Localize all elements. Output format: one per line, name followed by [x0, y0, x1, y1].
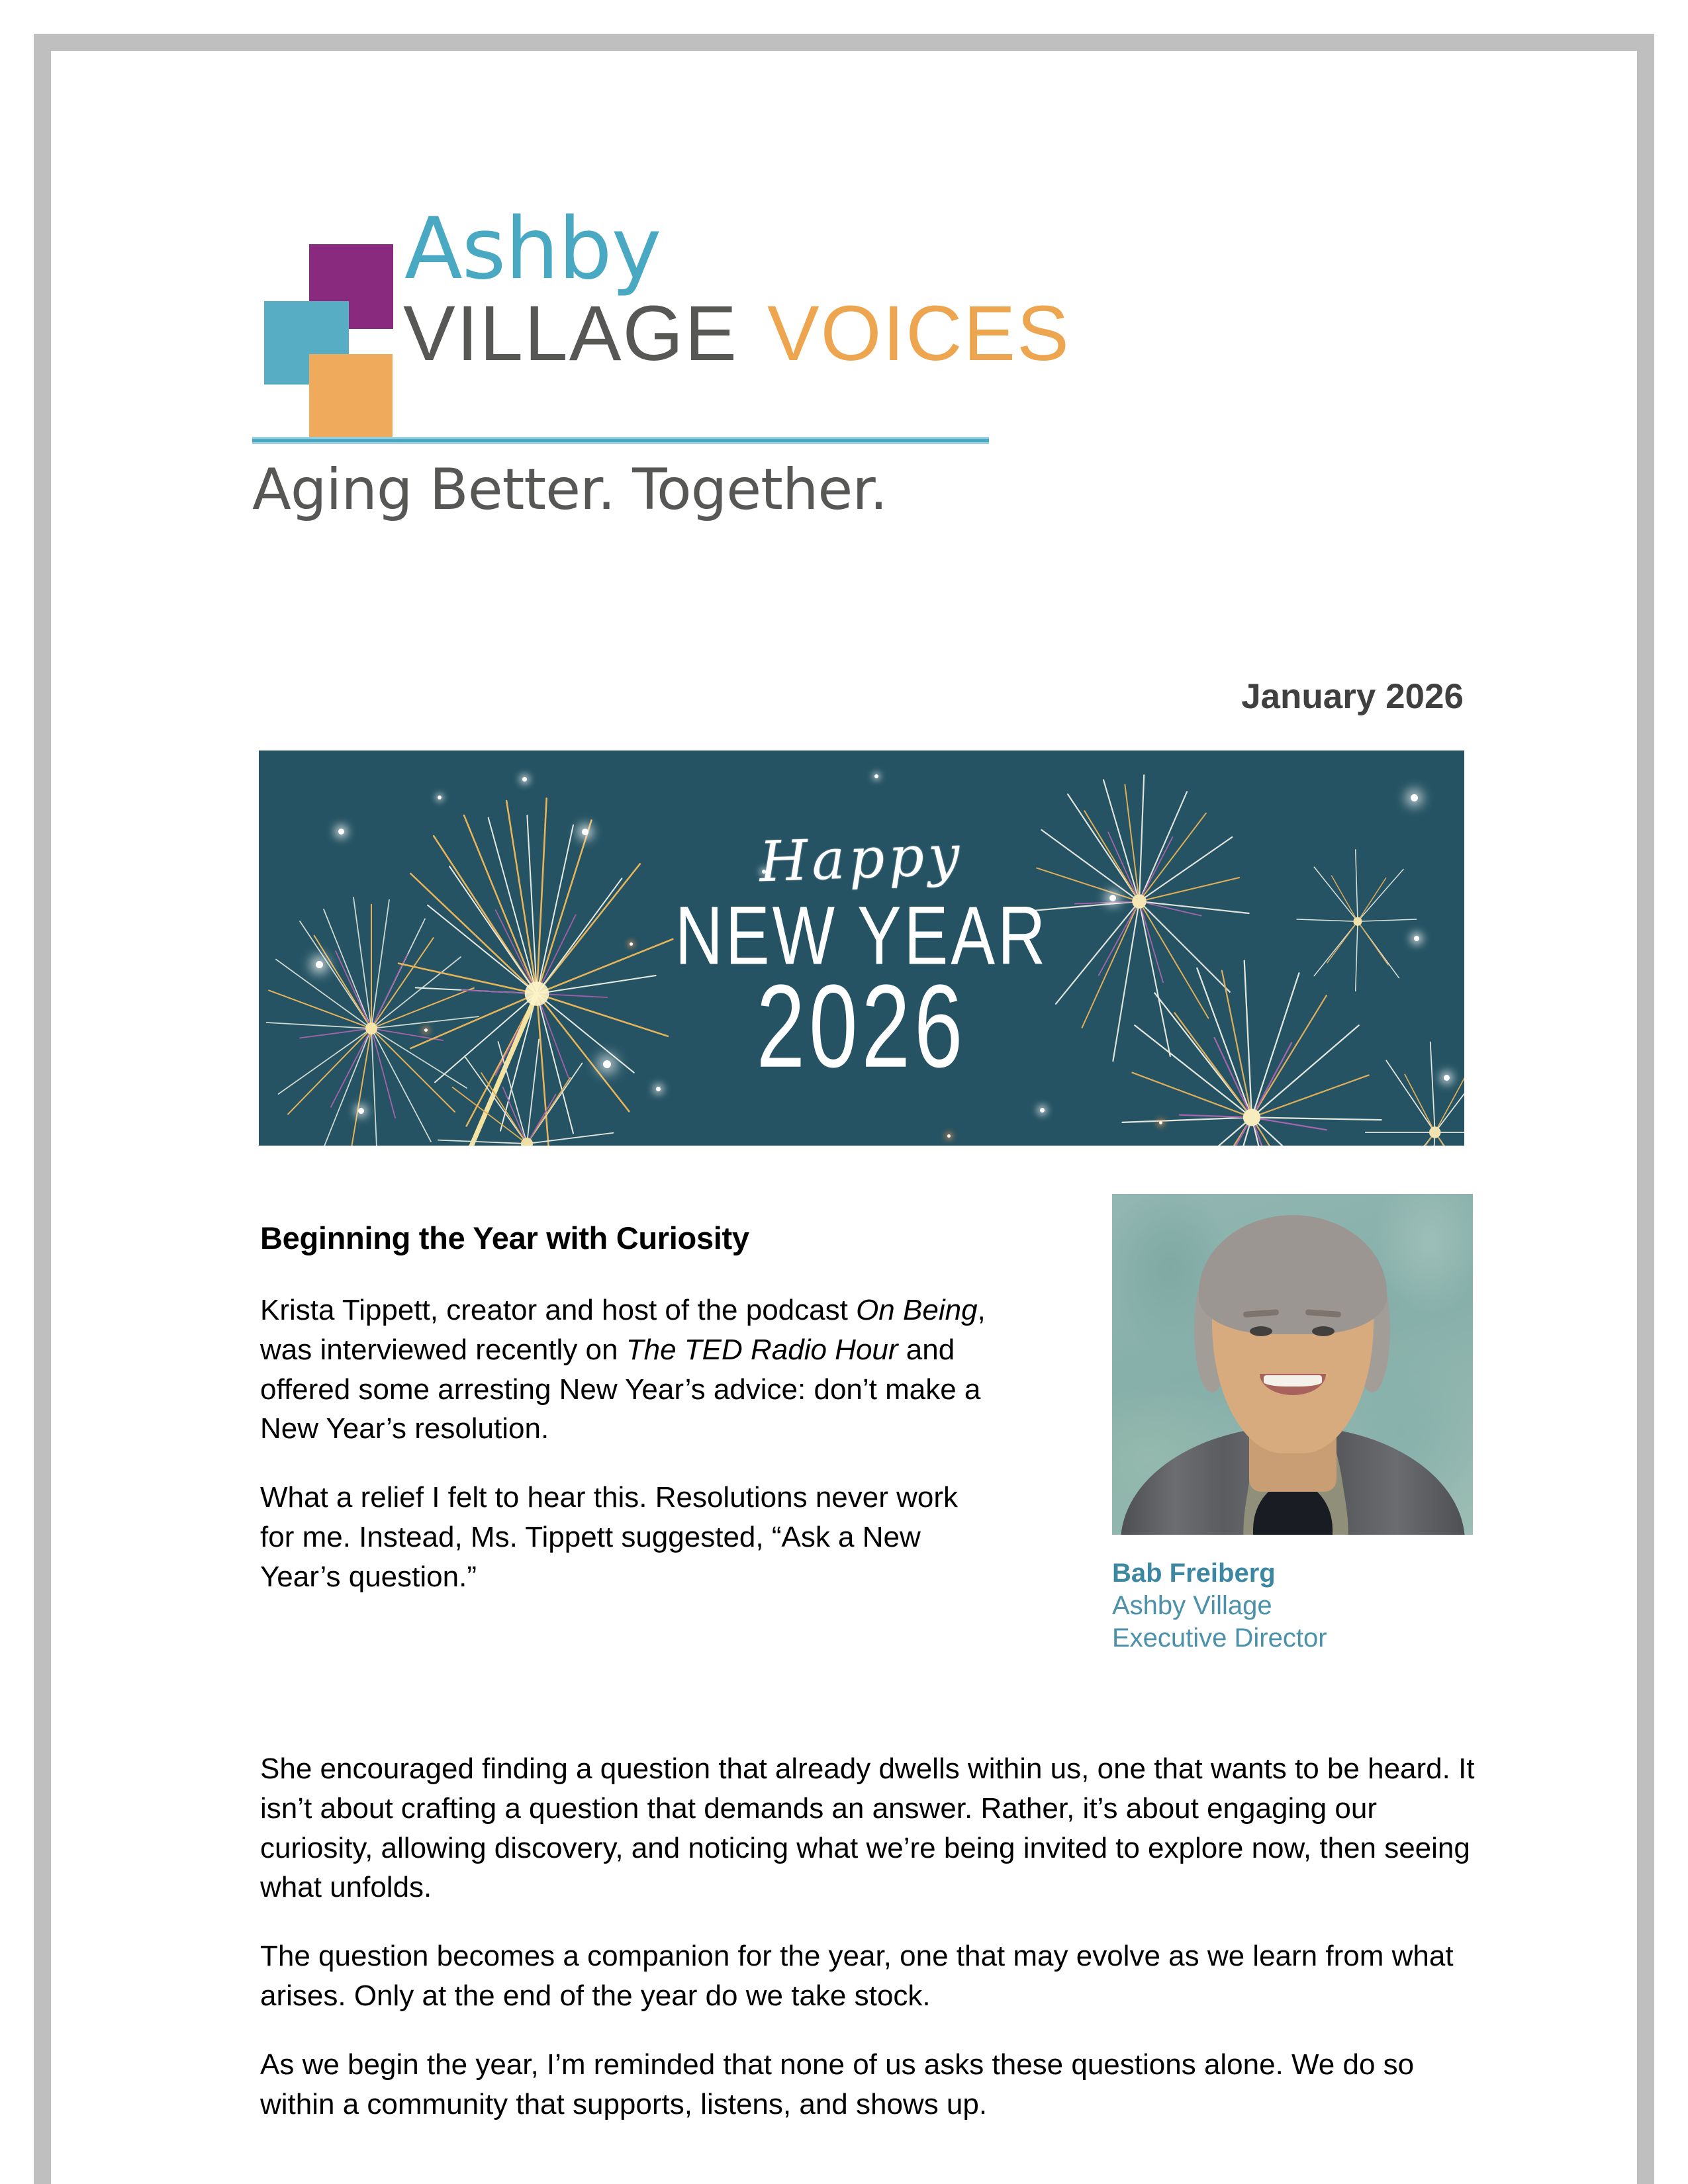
photo-eye-right — [1312, 1326, 1335, 1336]
firework-icon — [1291, 843, 1424, 995]
logo-divider-rule — [252, 437, 989, 444]
sparkle-icon — [438, 796, 442, 799]
logo-squares-icon — [252, 222, 404, 414]
sparkle-icon — [947, 1134, 951, 1138]
firework-icon — [431, 1028, 623, 1146]
new-year-banner: Happy NEW YEAR 2026 — [259, 751, 1464, 1146]
author-title: Executive Director — [1112, 1622, 1473, 1655]
logo-square-orange — [309, 354, 393, 439]
article-paragraph-2: What a relief I felt to hear this. Resol… — [260, 1478, 995, 1596]
sparkle-icon — [1414, 936, 1419, 941]
sparkle-icon — [1040, 1108, 1045, 1113]
sparkle-icon — [630, 942, 633, 946]
article-paragraph-1: Krista Tippett, creator and host of the … — [260, 1291, 995, 1449]
banner-headline: NEW YEAR — [675, 893, 1049, 979]
banner-script-happy: Happy — [759, 823, 965, 895]
logo-word-ashby: Ashby — [404, 207, 661, 292]
logo-wordmark-row: VILLAGEVOICES — [403, 295, 1070, 373]
article-paragraph-5: As we begin the year, I’m reminded that … — [260, 2045, 1476, 2124]
author-block: Bab Freiberg Ashby Village Executive Dir… — [1112, 1194, 1473, 1654]
author-name: Bab Freiberg — [1112, 1557, 1473, 1590]
article-headline: Beginning the Year with Curiosity — [260, 1220, 995, 1256]
logo-tagline: Aging Better. Together. — [252, 457, 887, 523]
sparkle-icon — [338, 829, 344, 835]
article-left-column: Beginning the Year with Curiosity Krista… — [260, 1220, 995, 1626]
article-paragraph-3: She encouraged finding a question that a… — [260, 1749, 1476, 1907]
masthead-logo: Ashby VILLAGEVOICES Aging Better. Togeth… — [252, 222, 1477, 539]
sparkle-icon — [874, 774, 878, 778]
sparkle-icon — [1159, 1121, 1162, 1124]
photo-eye-left — [1250, 1326, 1272, 1336]
page-content: Ashby VILLAGEVOICES Aging Better. Togeth… — [51, 51, 1637, 2184]
sparkle-icon — [1444, 1075, 1450, 1081]
sparkle-icon — [603, 1060, 611, 1068]
sparkle-icon — [424, 1028, 428, 1032]
sparkle-icon — [522, 777, 527, 782]
article-paragraph-4: The question becomes a companion for the… — [260, 1936, 1476, 2016]
sparkle-icon — [762, 870, 766, 874]
logo-word-voices: VOICES — [767, 290, 1070, 377]
sparkle-icon — [656, 1087, 661, 1091]
logo-word-village: VILLAGE — [403, 290, 738, 377]
sparkle-icon — [316, 961, 323, 968]
sparkle-icon — [582, 829, 588, 835]
author-photo — [1112, 1194, 1473, 1535]
issue-date: January 2026 — [51, 676, 1464, 717]
sparkle-icon — [1109, 895, 1116, 901]
photo-teeth — [1264, 1375, 1322, 1387]
firework-icon — [1358, 1035, 1464, 1146]
article-full-width-column: She encouraged finding a question that a… — [260, 1749, 1476, 2154]
page-frame: Ashby VILLAGEVOICES Aging Better. Togeth… — [34, 34, 1654, 2184]
sparkle-icon — [1411, 794, 1418, 801]
author-org: Ashby Village — [1112, 1590, 1473, 1622]
banner-year: 2026 — [757, 968, 967, 1085]
sparkle-icon — [358, 1108, 364, 1114]
